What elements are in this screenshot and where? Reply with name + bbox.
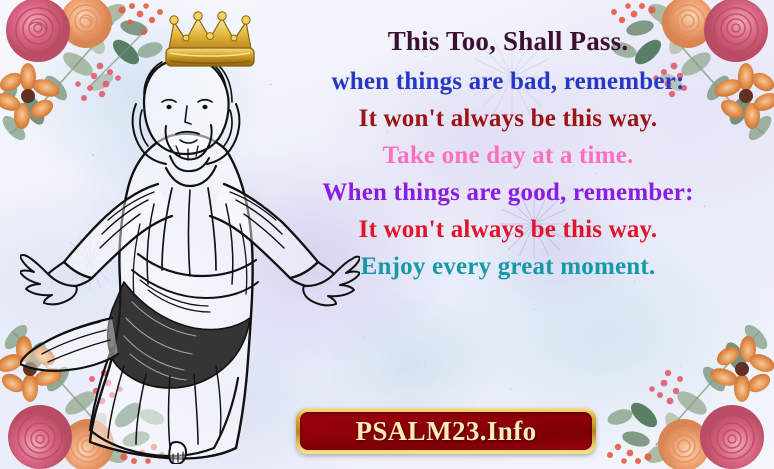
verse-line-7: Enjoy every great moment. [258, 254, 758, 279]
verse-line-3: It won't always be this way. [258, 106, 758, 131]
verse-line-1: This Too, Shall Pass. [258, 28, 758, 55]
verse-line-5: When things are good, remember: [258, 180, 758, 205]
verse-line-6: It won't always be this way. [258, 217, 758, 242]
verse-line-2: when things are bad, remember: [258, 69, 758, 94]
verse-line-4: Take one day at a time. [258, 143, 758, 168]
verse-text-block: This Too, Shall Pass. when things are ba… [258, 28, 758, 279]
psalm23-banner[interactable]: PSALM23.Info [296, 408, 596, 454]
banner-label: PSALM23.Info [355, 416, 536, 447]
banner-inner: PSALM23.Info [300, 412, 592, 450]
poster-card: This Too, Shall Pass. when things are ba… [0, 0, 774, 469]
gold-crown [160, 8, 260, 70]
